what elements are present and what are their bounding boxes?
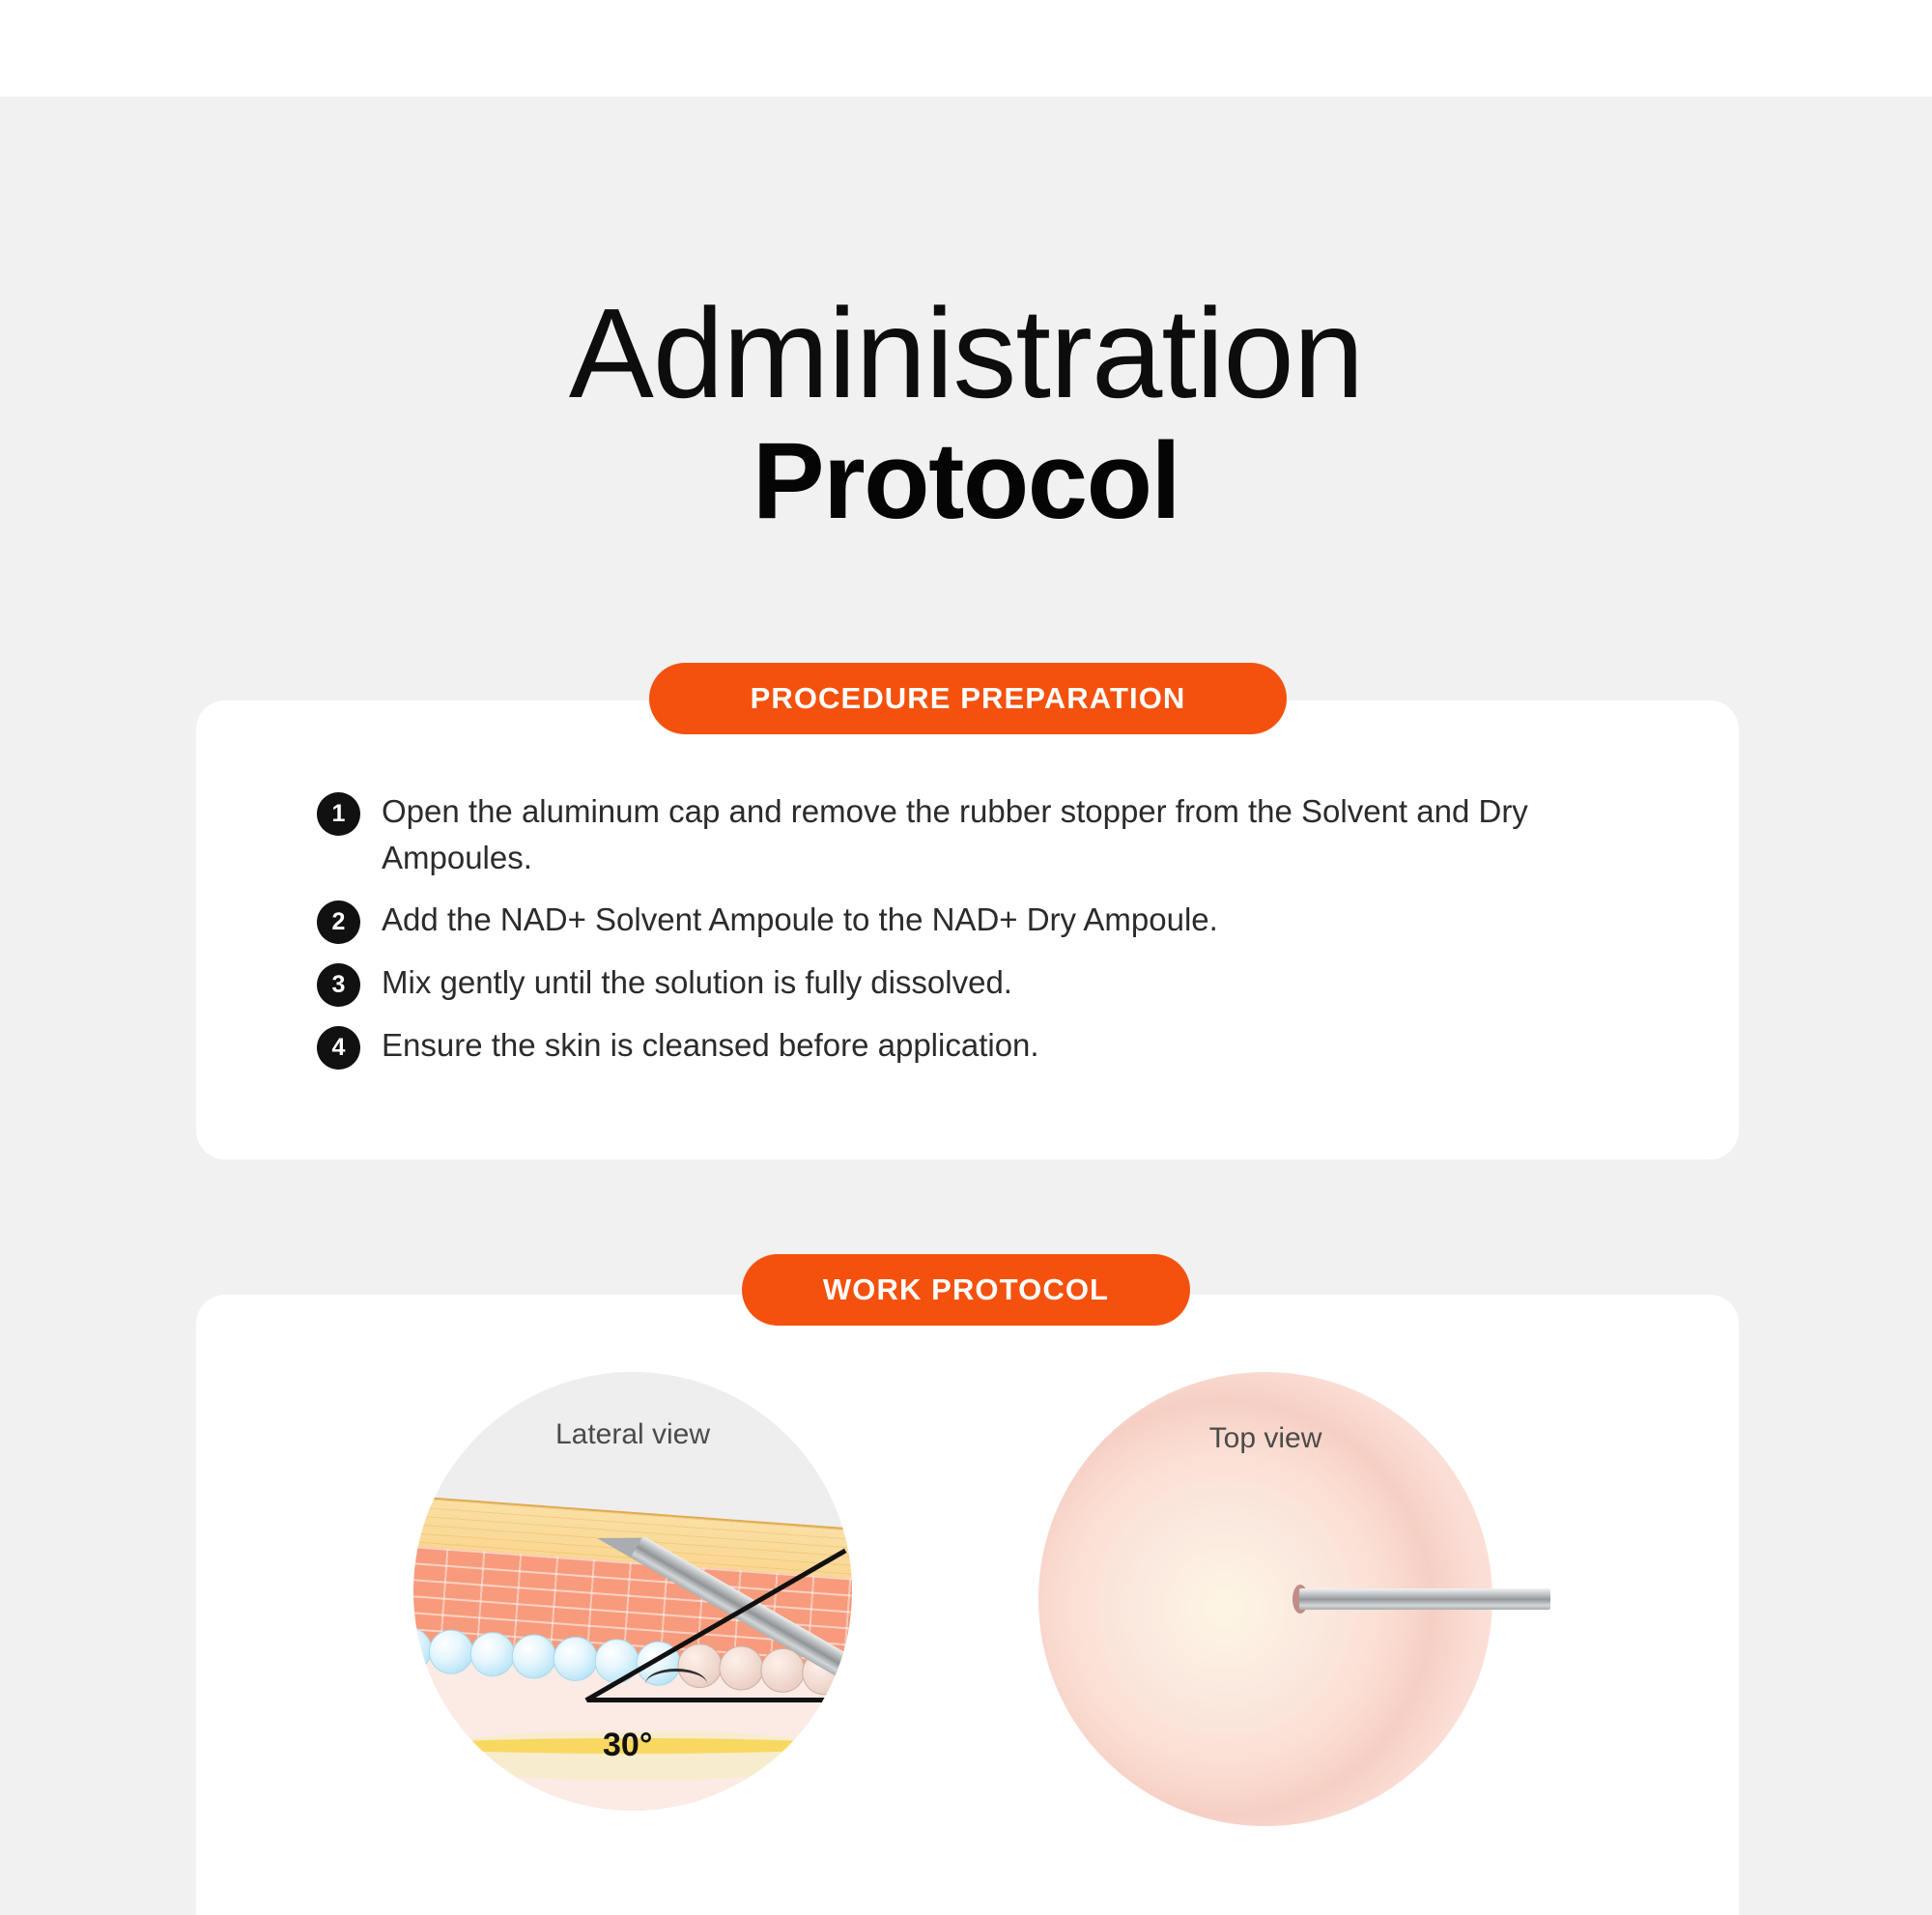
angle-label: 30° bbox=[603, 1727, 652, 1764]
step-text: Add the NAD+ Solvent Ampoule to the NAD+… bbox=[382, 897, 1218, 943]
step-text: Ensure the skin is cleansed before appli… bbox=[382, 1022, 1039, 1069]
illustration-label-lateral: Lateral view bbox=[413, 1418, 852, 1451]
section-badge-work-protocol: WORK PROTOCOL bbox=[742, 1254, 1190, 1326]
needle-icon bbox=[1299, 1588, 1550, 1610]
page-title: Administration Protocol bbox=[0, 290, 1932, 545]
card-work-protocol: 30° Lateral view Top view bbox=[196, 1295, 1739, 1915]
page-title-line2: Protocol bbox=[0, 417, 1932, 545]
list-item: 1 Open the aluminum cap and remove the r… bbox=[317, 788, 1631, 881]
list-item: 2 Add the NAD+ Solvent Ampoule to the NA… bbox=[317, 897, 1631, 944]
step-text: Mix gently until the solution is fully d… bbox=[382, 959, 1012, 1006]
product-bead bbox=[718, 1645, 764, 1692]
card-procedure-preparation: 1 Open the aluminum cap and remove the r… bbox=[196, 700, 1739, 1159]
product-bead bbox=[469, 1631, 515, 1677]
illustration-label-top: Top view bbox=[1038, 1422, 1492, 1455]
page-root: Administration Protocol PROCEDURE PREPAR… bbox=[0, 0, 1932, 1915]
list-item: 4 Ensure the skin is cleansed before app… bbox=[317, 1022, 1631, 1070]
product-bead bbox=[552, 1636, 598, 1682]
product-bead bbox=[593, 1638, 639, 1684]
step-number-badge: 1 bbox=[317, 792, 360, 836]
page-title-line1: Administration bbox=[0, 290, 1932, 417]
list-item: 3 Mix gently until the solution is fully… bbox=[317, 959, 1631, 1007]
step-text: Open the aluminum cap and remove the rub… bbox=[382, 788, 1579, 881]
angle-baseline bbox=[587, 1698, 852, 1702]
step-number-badge: 2 bbox=[317, 900, 360, 944]
top-white-band bbox=[0, 0, 1932, 97]
illustration-lateral-view: 30° Lateral view bbox=[413, 1372, 852, 1811]
step-number-badge: 3 bbox=[317, 963, 360, 1007]
step-number-badge: 4 bbox=[317, 1026, 360, 1070]
angle-arc bbox=[645, 1669, 707, 1702]
product-bead bbox=[427, 1629, 473, 1675]
product-bead bbox=[510, 1634, 556, 1680]
step-list: 1 Open the aluminum cap and remove the r… bbox=[317, 788, 1631, 1070]
section-badge-procedure-preparation: PROCEDURE PREPARATION bbox=[649, 663, 1287, 734]
illustration-top-view: Top view bbox=[1038, 1372, 1492, 1826]
illustration-row: 30° Lateral view Top view bbox=[196, 1295, 1739, 1915]
